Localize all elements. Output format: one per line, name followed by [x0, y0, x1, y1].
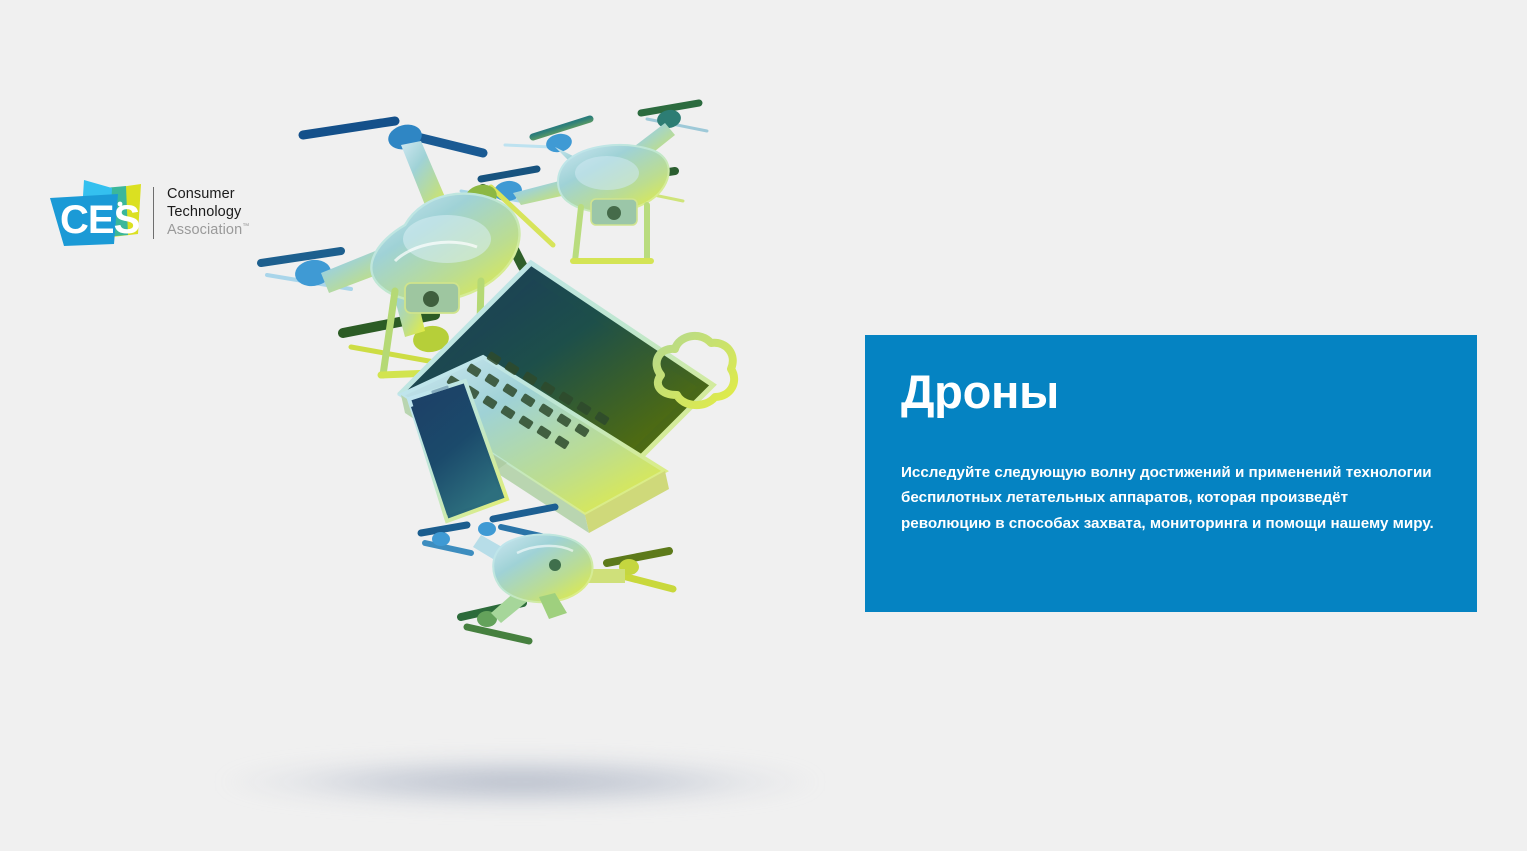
logo-registered-mark — [118, 202, 123, 207]
logo-line-consumer: Consumer — [167, 186, 249, 204]
panel-description: Исследуйте следующую волну достижений и … — [901, 460, 1441, 536]
panel-title: Дроны — [901, 367, 1441, 417]
ces-logo-mark: CES — [48, 176, 144, 250]
ces-logo[interactable]: CES Consumer Technology Association™ — [48, 176, 248, 250]
logo-line-association: Association™ — [167, 222, 249, 240]
drones-info-panel: Дроны Исследуйте следующую волну достиже… — [865, 335, 1477, 612]
trademark-symbol: ™ — [242, 223, 249, 230]
slide-canvas: CES Consumer Technology Association™ — [0, 0, 1527, 851]
logo-line-technology: Technology — [167, 204, 249, 222]
logo-wordmark: Consumer Technology Association™ — [167, 186, 249, 239]
logo-mark-text: CES — [60, 198, 140, 242]
logo-line-association-text: Association — [167, 222, 242, 238]
folding-drone-small — [421, 507, 673, 641]
drone-hero-artwork — [255, 75, 775, 665]
logo-divider — [153, 187, 154, 239]
ground-shadow — [150, 748, 890, 816]
